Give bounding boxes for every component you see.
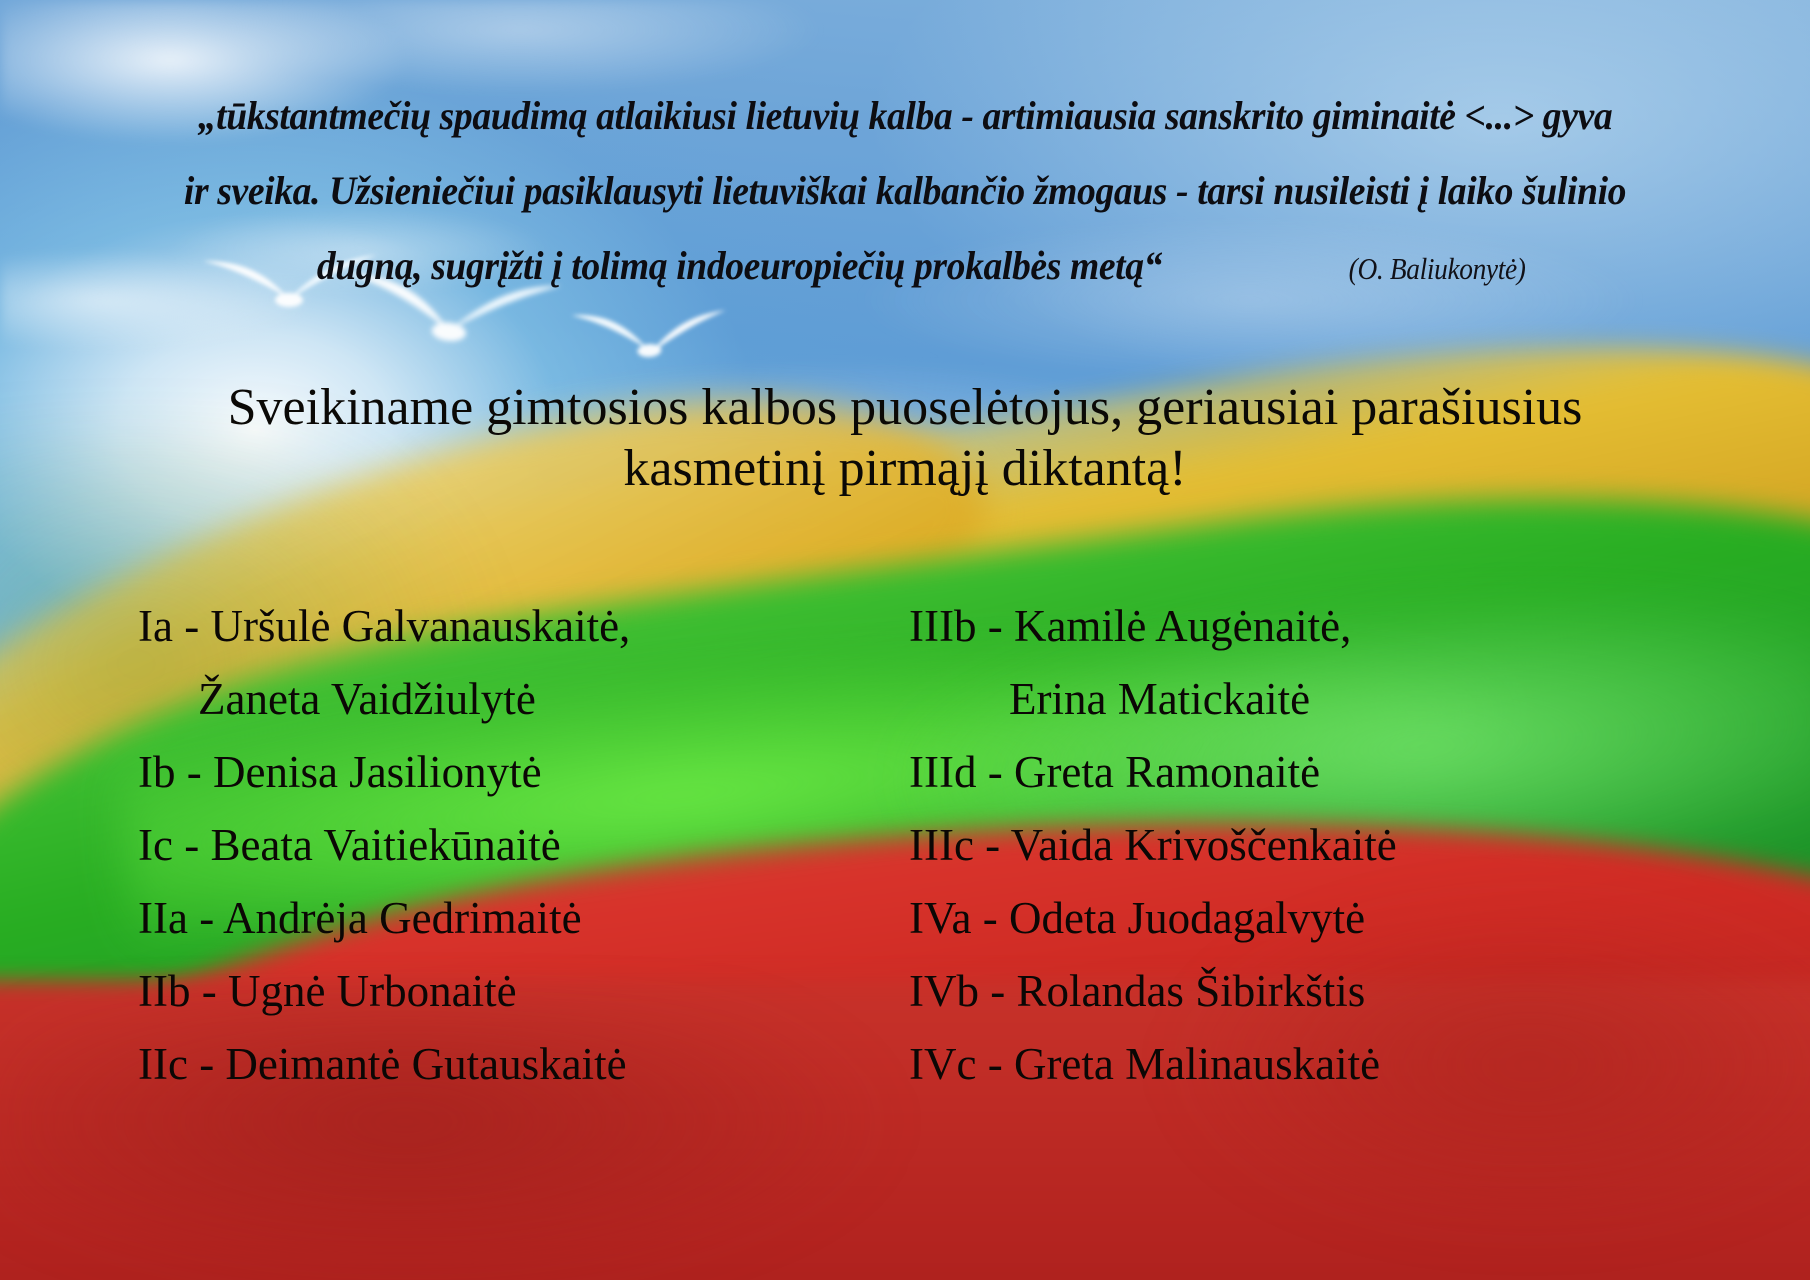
list-item: IVc - Greta Malinauskaitė [909,1042,1680,1115]
list-item: IIIc - Vaida Krivoščenkaitė [909,823,1680,896]
list-item: IVb - Rolandas Šibirkštis [909,969,1680,1042]
list-item: Erina Matickaitė [909,677,1680,750]
headline-line-1: Sveikiname gimtosios kalbos puoselėtojus… [90,378,1720,439]
quote-line-2: ir sveika. Užsieniečiui pasiklausyti lie… [54,171,1755,211]
quote-line-1: „tūkstantmečių spaudimą atlaikiusi lietu… [54,96,1755,136]
quote-line-3-row: dugną, sugrįžti į tolimą indoeuropiečių … [54,246,1755,286]
quote-line-3: dugną, sugrįžti į tolimą indoeuropiečių … [279,246,1162,286]
winners-lists: Ia - Uršulė Galvanauskaitė, Žaneta Vaidž… [0,604,1810,1115]
list-item: IIIb - Kamilė Augėnaitė, [909,604,1680,677]
winners-column-right: IIIb - Kamilė Augėnaitė, Erina Matickait… [29,604,1680,1115]
list-item: IIId - Greta Ramonaitė [909,750,1680,823]
page-title: Sveikiname gimtosios kalbos puoselėtojus… [0,378,1810,500]
list-item: IVa - Odeta Juodagalvytė [909,896,1680,969]
quote-author: (O. Baliukonytė) [1348,253,1525,284]
presentation-slide: „tūkstantmečių spaudimą atlaikiusi lietu… [0,0,1810,1280]
headline-line-2: kasmetinį pirmąjį diktantą! [90,439,1720,500]
epigraph-quote: „tūkstantmečių spaudimą atlaikiusi lietu… [0,96,1810,321]
